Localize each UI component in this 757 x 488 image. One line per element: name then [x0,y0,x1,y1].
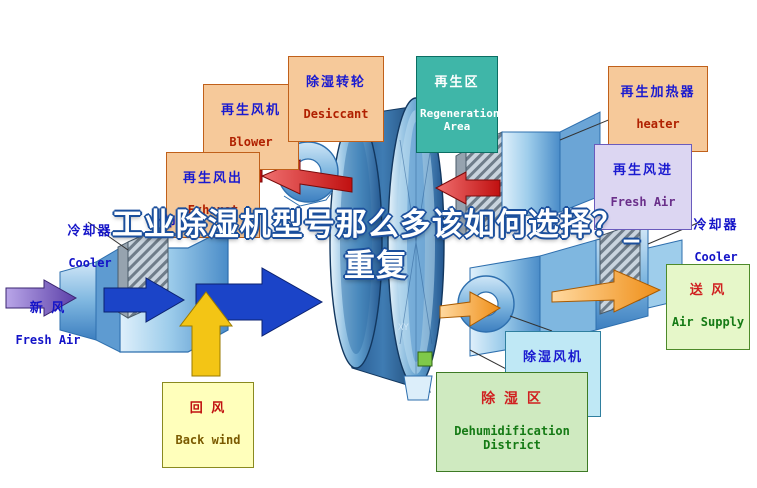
label-dehum-district: 除 湿 区 Dehumidification District [436,372,588,472]
label-regen-heater: 再生加热器 heater [608,66,708,152]
label-cooler-mid: 冷却器 [140,197,200,249]
label-desiccant-wheel: 除湿转轮 Desiccant [288,56,384,142]
diagram-canvas: XY [0,0,757,488]
label-regen-area: 再生区 Regeneration Area [416,56,498,153]
dehum-district-marker [418,352,432,366]
label-back-wind: 回 风 Back wind [162,382,254,468]
label-cooler-left: 冷却器 Cooler [52,206,128,290]
svg-text:XY: XY [398,323,409,333]
label-air-supply: 送 风 Air Supply [666,264,750,350]
label-fresh-air-left: 新 风 Fresh Air [4,283,92,367]
